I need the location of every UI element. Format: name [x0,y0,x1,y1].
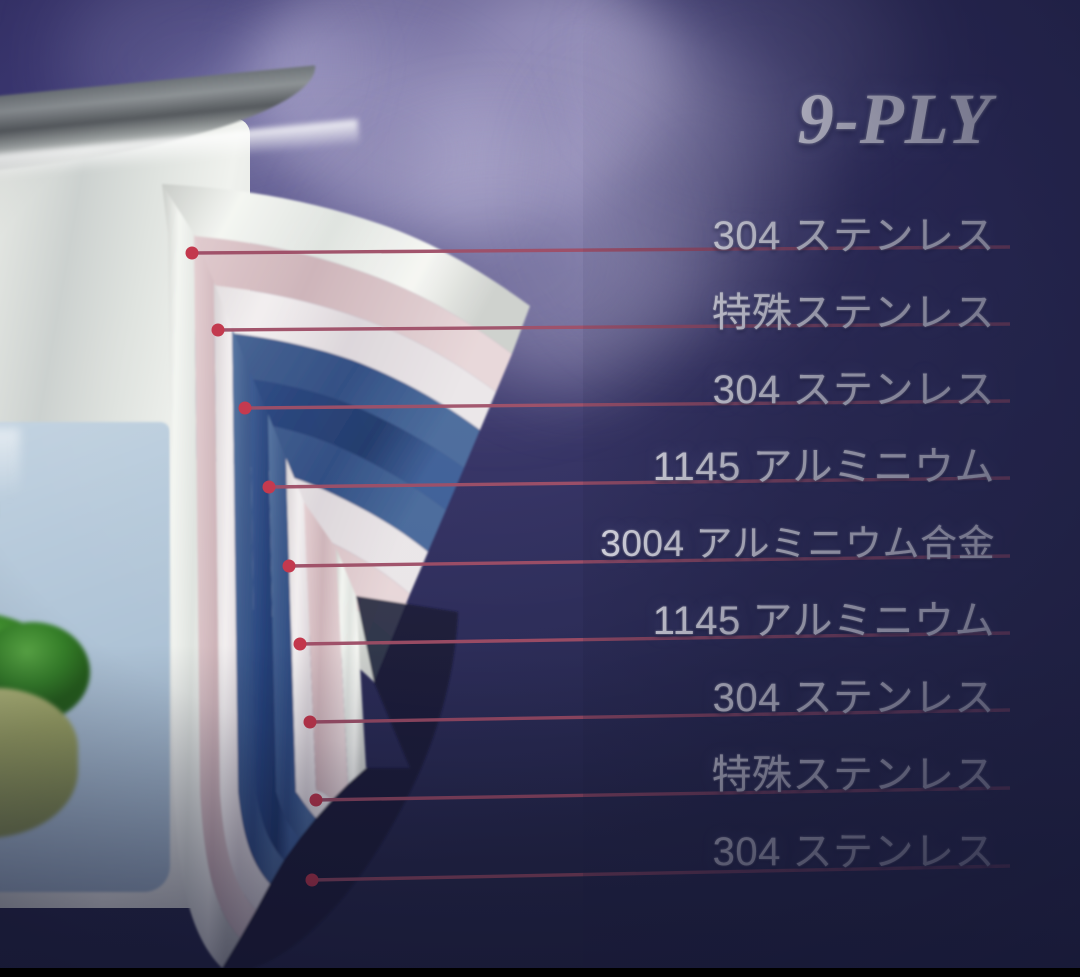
bottom-letterbox-bar [0,968,1080,977]
cookware-ply-diagram: 9-PLY 304 ステンレス 特殊ステンレス 304 ステンレス 1145 ア… [0,0,1080,977]
bottom-shade [0,645,1080,977]
